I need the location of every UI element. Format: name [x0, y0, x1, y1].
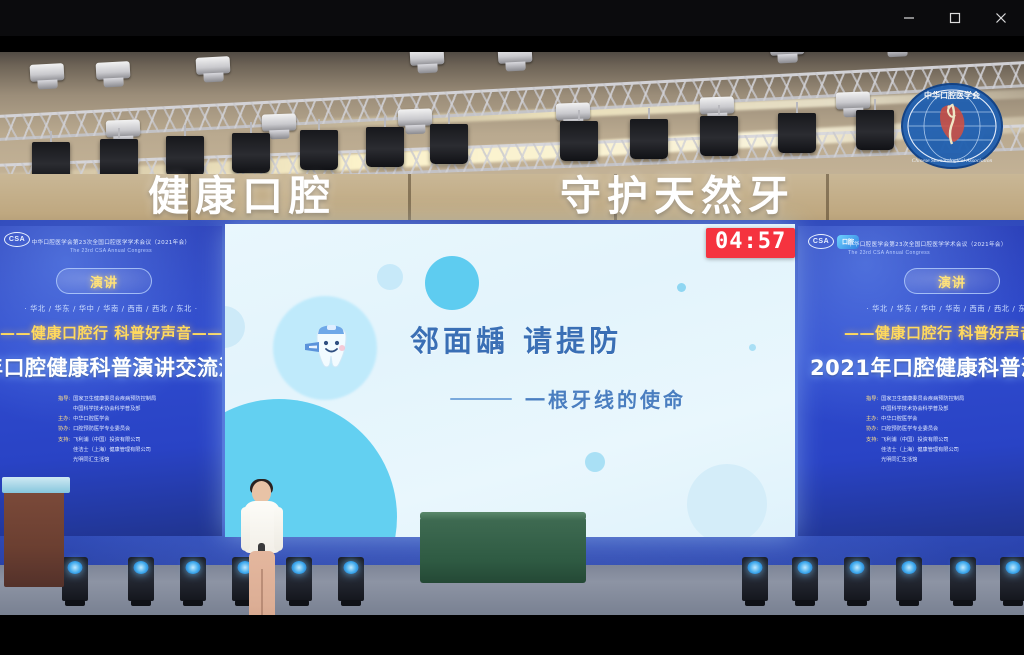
slide-decor-circle: [225, 306, 245, 348]
close-icon[interactable]: [978, 2, 1024, 34]
svg-text:Chinese Stomatological Associa: Chinese Stomatological Association: [912, 158, 993, 164]
moving-head-light-icon: [792, 557, 818, 601]
csa-watermark-logo: 中华口腔医学会 Chinese Stomatological Associati…: [898, 78, 1006, 174]
credit-label: 指导:: [866, 396, 878, 402]
credit-row: 佳洁士（上海）健康管理有限公司: [866, 445, 964, 455]
credit-row: 主办:中华口腔医学会: [58, 414, 156, 424]
moving-head-light-icon: [286, 557, 312, 601]
moving-head-light-icon: [180, 557, 206, 601]
presenter-arm-right: [274, 507, 283, 551]
credit-row: 光明同汇生活馆: [866, 455, 964, 465]
credit-label: 支持:: [58, 437, 70, 443]
credit-value: 佳洁士（上海）健康管理有限公司: [881, 447, 959, 453]
slide-decor-circle: [377, 264, 403, 290]
credit-row: 指导:国家卫生健康委员会疾病预防控制局: [58, 394, 156, 404]
tooth-mascot-icon: [301, 322, 359, 374]
credit-row: 中国科学技术协会科学普及部: [866, 404, 964, 414]
poster-slogan: ——健康口腔行 科普好声音——: [0, 322, 222, 343]
credit-value: 飞利浦（中国）投资有限公司: [881, 437, 948, 443]
svg-text:中华口腔医学会: 中华口腔医学会: [924, 90, 980, 100]
poster-header-cn: 中华口腔医学会第23次全国口腔医学学术会议（2021年会）: [848, 240, 1024, 248]
moving-head-light-icon: [844, 557, 870, 601]
speech-contest-logo: 演讲: [904, 268, 1000, 294]
moving-head-light-icon: [742, 557, 768, 601]
credit-value: 飞利浦（中国）投资有限公司: [73, 437, 140, 443]
credit-row: 支持:飞利浦（中国）投资有限公司: [866, 435, 964, 445]
moving-head-light-icon: [896, 557, 922, 601]
credit-label: 协办:: [58, 426, 70, 432]
app-window: 健康口腔 守护天然牙 CSA 中华口腔医学会第23次全国口腔医学学术会议（202…: [0, 0, 1024, 655]
moving-head-light-icon: [1000, 557, 1024, 601]
poster-regions: · 华北 / 华东 / 华中 / 华南 / 西南 / 西北 / 东北 ·: [0, 304, 222, 314]
hanging-speaker-icon: [700, 116, 738, 156]
credit-row: 中国科学技术协会科学普及部: [58, 404, 156, 414]
slide-decor-circle: [585, 452, 605, 472]
hanging-speaker-icon: [300, 130, 338, 170]
moving-head-light-icon: [950, 557, 976, 601]
hanging-speaker-icon: [560, 121, 598, 161]
hanging-speaker-icon: [166, 136, 204, 176]
stage-green-platform: [420, 517, 586, 583]
poster-regions: · 华北 / 华东 / 华中 / 华南 / 西南 / 西北 / 东北 ·: [848, 304, 1024, 314]
hanging-speaker-icon: [856, 110, 894, 150]
credit-row: 光明同汇生活馆: [58, 455, 156, 465]
slide-decor-circle: [749, 344, 756, 351]
poster-slogan: ——健康口腔行 科普好声音——: [844, 322, 1024, 343]
slide-subtitle: 一根牙线的使命: [525, 384, 686, 413]
poster-header-cn: 中华口腔医学会第23次全国口腔医学学术会议（2021年会）: [0, 238, 222, 246]
moving-head-light-icon: [338, 557, 364, 601]
stage-spotlight-icon: [106, 119, 141, 137]
credit-row: 支持:飞利浦（中国）投资有限公司: [58, 435, 156, 445]
credit-label: 主办:: [866, 416, 878, 422]
credit-value: 口腔预防医学专业委员会: [73, 426, 130, 432]
hanging-speaker-icon: [366, 127, 404, 167]
credit-value: 佳洁士（上海）健康管理有限公司: [73, 447, 151, 453]
hanging-speaker-icon: [100, 139, 138, 179]
speech-contest-logo: 演讲: [56, 268, 152, 294]
poster-title-left: 年口腔健康科普演讲交流活动: [0, 352, 222, 382]
credit-value: 中国科学技术协会科学普及部: [73, 406, 140, 412]
countdown-timer: 04:57: [706, 228, 795, 258]
credit-label: 指导:: [58, 396, 70, 402]
credit-label: 支持:: [866, 437, 878, 443]
hanging-speaker-icon: [430, 124, 468, 164]
credit-row: 协办:口腔预防医学专业委员会: [58, 424, 156, 434]
minimize-icon[interactable]: [886, 2, 932, 34]
presenter-head: [252, 481, 271, 503]
stage-banner-left-text: 健康口腔: [148, 176, 336, 217]
hanging-speaker-icon: [778, 113, 816, 153]
stage-spotlight-icon: [30, 63, 65, 82]
credit-label: 主办:: [58, 416, 70, 422]
slide-decor-circle: [677, 283, 686, 292]
moving-head-light-icon: [62, 557, 88, 601]
stage-spotlight-icon: [262, 113, 297, 131]
hanging-speaker-icon: [232, 133, 270, 173]
credit-row: 主办:中华口腔医学会: [866, 414, 964, 424]
podium-top-panel: [2, 477, 70, 493]
video-player-surface[interactable]: 健康口腔 守护天然牙 CSA 中华口腔医学会第23次全国口腔医学学术会议（202…: [0, 26, 1024, 615]
moving-head-light-icon: [128, 557, 154, 601]
credit-row: 指导:国家卫生健康委员会疾病预防控制局: [866, 394, 964, 404]
slide-subtitle-rule: [450, 398, 512, 400]
stage-spotlight-icon: [556, 102, 591, 120]
stage-spotlight-icon: [196, 56, 231, 75]
poster-credits-left: 指导:国家卫生健康委员会疾病预防控制局 中国科学技术协会科学普及部 主办:中华口…: [58, 394, 156, 465]
stage-spotlight-icon: [398, 108, 433, 126]
slide-title: 邻面龋 请提防: [410, 318, 622, 360]
stage-spotlight-icon: [700, 96, 735, 114]
credit-row: 协办:口腔预防医学专业委员会: [866, 424, 964, 434]
presenter-arm-left: [241, 507, 250, 551]
presentation-slide: 邻面龋 请提防 一根牙线的使命: [225, 224, 795, 537]
presenter-legs: [249, 551, 275, 615]
poster-header-en: The 23rd CSA Annual Congress: [0, 248, 222, 254]
credit-row: 佳洁士（上海）健康管理有限公司: [58, 445, 156, 455]
credit-value: 中华口腔医学会: [73, 416, 109, 422]
hanging-speaker-icon: [630, 119, 668, 159]
stage-podium: [4, 489, 64, 587]
credit-value: 中国科学技术协会科学普及部: [881, 406, 948, 412]
maximize-icon[interactable]: [932, 2, 978, 34]
platform-top: [420, 512, 586, 520]
poster-title-right: 2021年口腔健康科普演讲交流活动: [810, 352, 1024, 382]
slide-subtitle-group: 一根牙线的使命: [450, 384, 686, 413]
window-title-bar: [0, 0, 1024, 36]
letterbox-bottom: [0, 615, 1024, 655]
poster-credits-right: 指导:国家卫生健康委员会疾病预防控制局 中国科学技术协会科学普及部 主办:中华口…: [866, 394, 964, 465]
stage-spotlight-icon: [836, 91, 871, 109]
event-poster-right: CSA 口腔 中华口腔医学会第23次全国口腔医学学术会议（2021年会） The…: [798, 226, 1024, 536]
credit-label: 协办:: [866, 426, 878, 432]
credit-value: 光明同汇生活馆: [881, 457, 917, 463]
csa-oval-icon: CSA: [808, 234, 834, 249]
stage-banner-right-text: 守护天然牙: [560, 176, 795, 217]
slide-decor-circle: [687, 464, 767, 537]
credit-value: 国家卫生健康委员会疾病预防控制局: [881, 396, 964, 402]
slide-decor-circle: [425, 256, 479, 310]
credit-value: 光明同汇生活馆: [73, 457, 109, 463]
credit-value: 口腔预防医学专业委员会: [881, 426, 938, 432]
presenter-person: [240, 481, 284, 615]
credit-value: 中华口腔医学会: [881, 416, 917, 422]
credit-value: 国家卫生健康委员会疾病预防控制局: [73, 396, 156, 402]
poster-header-en: The 23rd CSA Annual Congress: [848, 250, 1024, 256]
stage-spotlight-icon: [96, 61, 131, 80]
